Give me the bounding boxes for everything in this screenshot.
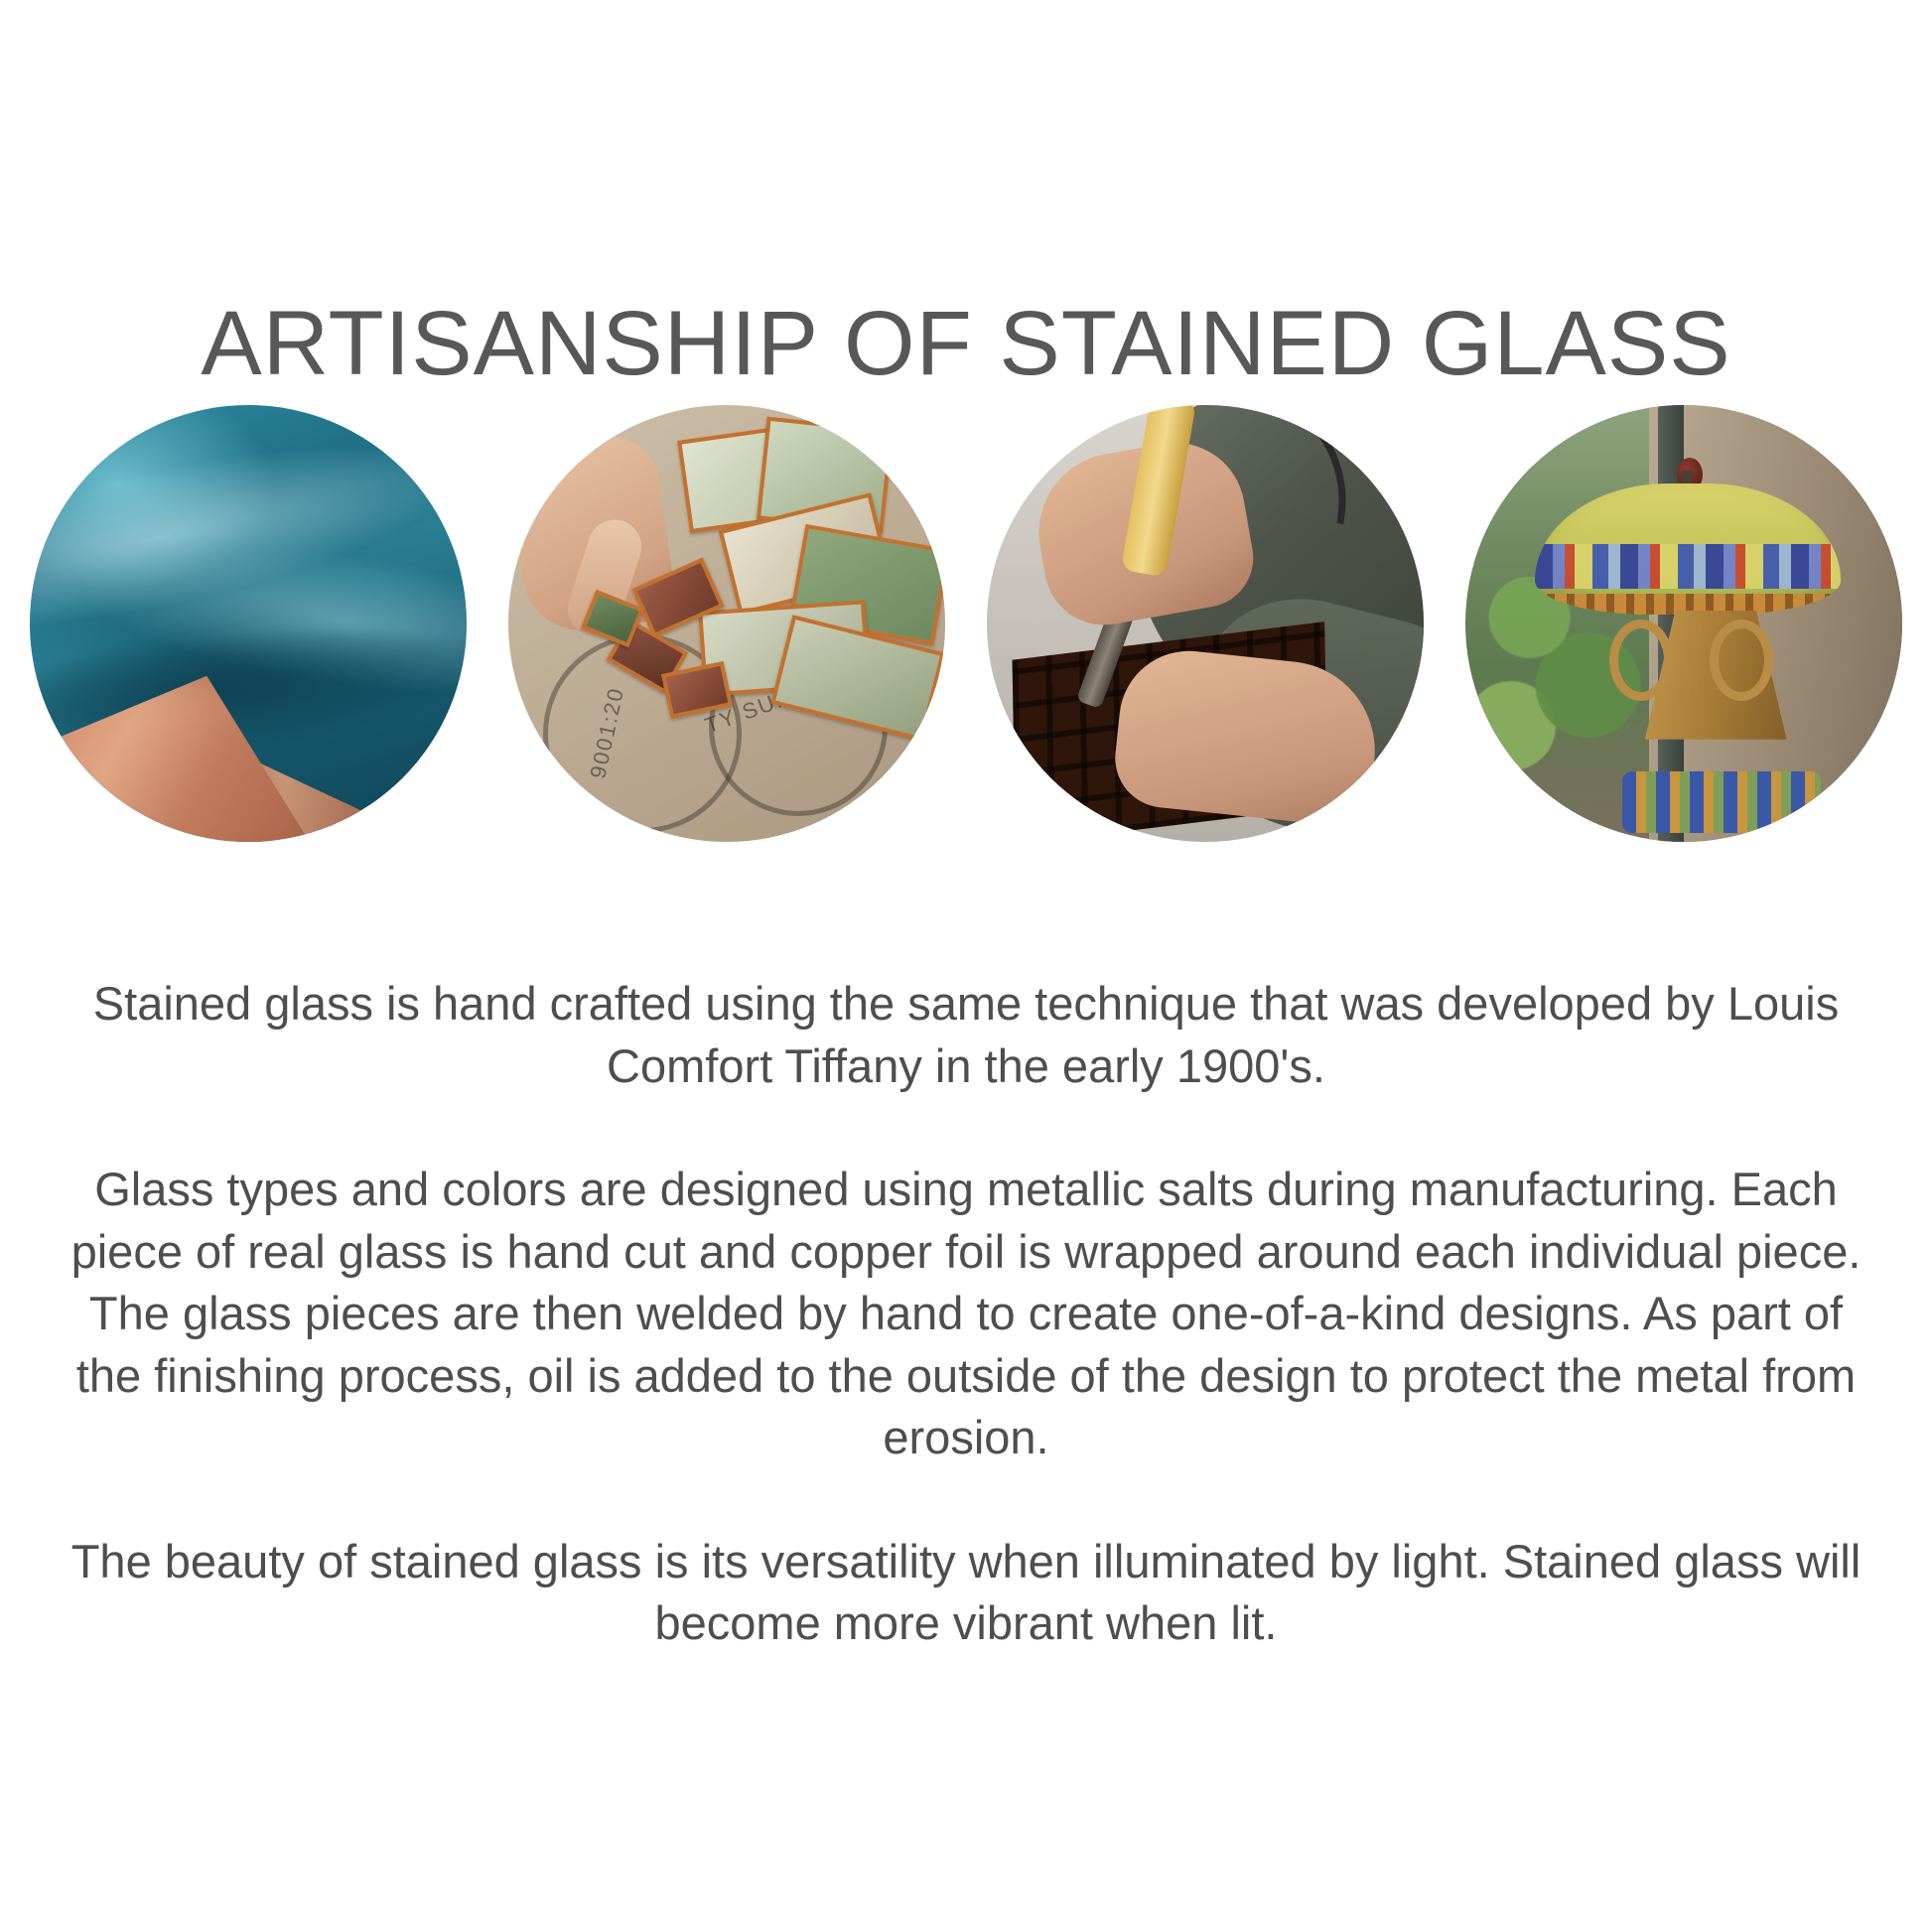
paragraph-process: Glass types and colors are designed usin… bbox=[52, 1159, 1880, 1469]
image-gallery: 9001:20 TY SUPER QU bbox=[30, 405, 1902, 842]
blue-art-glass-image bbox=[30, 405, 467, 842]
tiffany-lamp-image bbox=[1465, 405, 1902, 842]
lamp-handle-left bbox=[1609, 620, 1673, 701]
copper-foiled-glass-image: 9001:20 TY SUPER QU bbox=[508, 405, 945, 842]
photo-tiffany-style-lamp bbox=[1465, 405, 1902, 842]
soldering-image bbox=[987, 405, 1424, 842]
page-title: ARTISANSHIP OF STAINED GLASS bbox=[0, 298, 1932, 389]
paragraph-intro: Stained glass is hand crafted using the … bbox=[52, 973, 1880, 1097]
photo-soldering-stained-glass-panel bbox=[987, 405, 1424, 842]
poster-page: ARTISANSHIP OF STAINED GLASS 9001:20 TY … bbox=[0, 0, 1932, 1932]
lamp-foot bbox=[1622, 771, 1821, 833]
lamp-handle-right bbox=[1710, 620, 1773, 701]
body-copy: Stained glass is hand crafted using the … bbox=[0, 973, 1932, 1655]
shade-decorative-band bbox=[1535, 544, 1841, 589]
paragraph-beauty: The beauty of stained glass is its versa… bbox=[52, 1531, 1880, 1655]
photo-blue-art-glass-sheet bbox=[30, 405, 467, 842]
photo-copper-foiled-glass-pieces: 9001:20 TY SUPER QU bbox=[508, 405, 945, 842]
